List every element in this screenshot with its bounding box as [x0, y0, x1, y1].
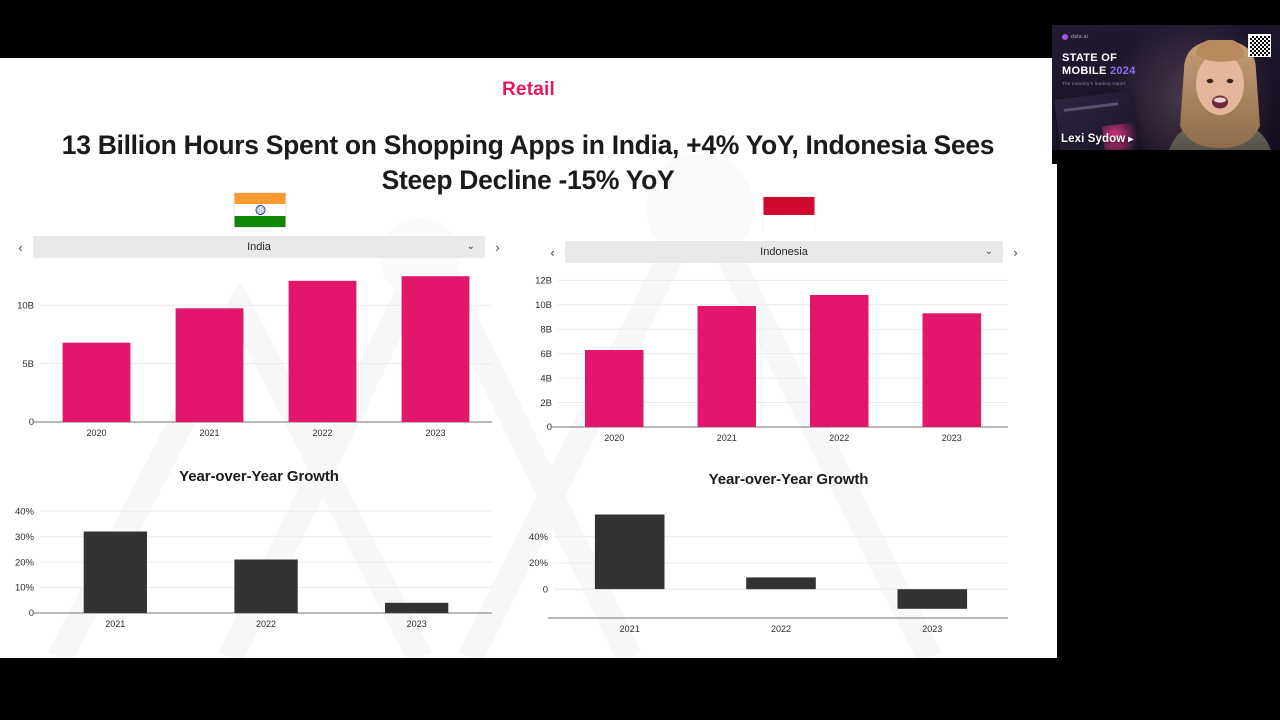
- svg-text:30%: 30%: [15, 532, 35, 543]
- chart-indonesia-yoy: 020%40%202120222023: [520, 496, 1057, 644]
- chart-title-indonesia-yoy: Year-over-Year Growth: [520, 471, 1057, 488]
- svg-text:2022: 2022: [829, 433, 849, 443]
- chart-title-india-yoy: Year-over-Year Growth: [0, 468, 520, 485]
- video-title: STATE OF MOBILE 2024: [1062, 52, 1136, 78]
- svg-text:2021: 2021: [199, 428, 219, 438]
- country-panel-india: ‹ India ⌄ › 05B10B2020202120222023 Year-…: [0, 192, 520, 639]
- slide-headline: 13 Billion Hours Spent on Shopping Apps …: [28, 128, 1028, 198]
- flag-container-indonesia: [520, 192, 1057, 237]
- chevron-down-icon: ⌄: [985, 247, 993, 257]
- svg-text:2023: 2023: [407, 619, 427, 629]
- flag-india-icon: [234, 192, 287, 228]
- svg-text:10B: 10B: [17, 301, 34, 312]
- svg-text:40%: 40%: [15, 506, 35, 517]
- next-country-button-indonesia[interactable]: ›: [1007, 242, 1024, 263]
- svg-text:2021: 2021: [105, 619, 125, 629]
- chart-india-hours: 05B10B2020202120222023: [0, 258, 520, 450]
- svg-text:2B: 2B: [540, 398, 552, 409]
- video-title-line1: STATE OF: [1062, 52, 1117, 64]
- country-dropdown-indonesia[interactable]: Indonesia ⌄: [565, 241, 1003, 263]
- chart-india-hours-svg: 05B10B2020202120222023: [0, 258, 510, 450]
- prev-country-button-india[interactable]: ‹: [12, 237, 29, 258]
- chart-india-yoy: 010%20%30%40%202120222023: [0, 491, 520, 639]
- svg-text:20%: 20%: [529, 558, 549, 569]
- pointer-icon: ▸: [1128, 134, 1133, 145]
- svg-text:10%: 10%: [15, 583, 35, 594]
- flag-band-red: [763, 197, 814, 215]
- video-tagline: The industry's leading report: [1062, 81, 1126, 86]
- svg-text:2023: 2023: [425, 428, 445, 438]
- svg-text:12B: 12B: [535, 276, 552, 287]
- svg-text:2023: 2023: [922, 624, 942, 634]
- flag-band-white: [763, 215, 814, 232]
- svg-text:2020: 2020: [86, 428, 106, 438]
- prev-country-button-indonesia[interactable]: ‹: [544, 242, 561, 263]
- svg-text:2022: 2022: [312, 428, 332, 438]
- flag-band-white: [235, 204, 286, 215]
- svg-text:2022: 2022: [256, 619, 276, 629]
- svg-text:2021: 2021: [620, 624, 640, 634]
- svg-text:20%: 20%: [15, 557, 35, 568]
- svg-text:2020: 2020: [604, 433, 624, 443]
- chart-indonesia-hours-svg: 02B4B6B8B10B12B2020202120222023: [520, 263, 1020, 455]
- chart-indonesia-hours: 02B4B6B8B10B12B2020202120222023: [520, 263, 1057, 455]
- country-dropdown-value-indonesia: Indonesia: [760, 246, 808, 258]
- country-dropdown-value-india: India: [247, 241, 271, 253]
- flag-container-india: [0, 192, 520, 232]
- flag-band-saffron: [235, 193, 286, 204]
- svg-text:2021: 2021: [717, 433, 737, 443]
- svg-text:0: 0: [29, 608, 34, 619]
- brand-label: data.ai: [1071, 34, 1088, 40]
- speaker-name: Lexi Sydow: [1061, 133, 1125, 145]
- screen: Retail 13 Billion Hours Spent on Shoppin…: [0, 0, 1280, 720]
- video-bottom-bar: [1052, 150, 1280, 164]
- speaker-avatar: [1156, 40, 1280, 164]
- chevron-down-icon: ⌄: [467, 242, 475, 252]
- brand-logo: data.ai: [1062, 34, 1088, 40]
- svg-text:8B: 8B: [540, 324, 552, 335]
- country-selector-india: ‹ India ⌄ ›: [0, 236, 520, 258]
- chart-india-yoy-svg: 010%20%30%40%202120222023: [0, 491, 510, 639]
- chart-indonesia-yoy-svg: 020%40%202120222023: [520, 496, 1020, 644]
- country-panel-indonesia: ‹ Indonesia ⌄ › 02B4B6B8B10B12B202020212…: [520, 192, 1057, 644]
- svg-text:5B: 5B: [22, 359, 34, 370]
- svg-text:4B: 4B: [540, 373, 552, 384]
- country-selector-indonesia: ‹ Indonesia ⌄ ›: [520, 241, 1057, 263]
- svg-text:2022: 2022: [771, 624, 791, 634]
- svg-text:2023: 2023: [942, 433, 962, 443]
- svg-text:10B: 10B: [535, 300, 552, 311]
- next-country-button-india[interactable]: ›: [489, 237, 506, 258]
- flag-indonesia-icon: [762, 196, 815, 232]
- slide-category: Retail: [0, 79, 1057, 101]
- presentation-slide: Retail 13 Billion Hours Spent on Shoppin…: [0, 58, 1057, 658]
- qr-code-icon: [1248, 34, 1271, 57]
- svg-text:6B: 6B: [540, 349, 552, 360]
- speaker-video-overlay[interactable]: data.ai STATE OF MOBILE 2024 The industr…: [1052, 25, 1280, 164]
- country-dropdown-india[interactable]: India ⌄: [33, 236, 485, 258]
- flag-band-green: [235, 216, 286, 227]
- qr-code-pattern: [1250, 36, 1270, 56]
- brand-dot-icon: [1062, 34, 1068, 40]
- svg-text:0: 0: [543, 584, 548, 595]
- speaker-name-tag: Lexi Sydow▸: [1052, 131, 1141, 148]
- video-title-year: 2024: [1110, 65, 1136, 77]
- svg-text:40%: 40%: [529, 532, 549, 543]
- svg-text:0: 0: [29, 417, 34, 428]
- video-title-line2: MOBILE: [1062, 65, 1107, 77]
- ashoka-chakra-icon: [255, 205, 265, 215]
- svg-text:0: 0: [547, 422, 552, 433]
